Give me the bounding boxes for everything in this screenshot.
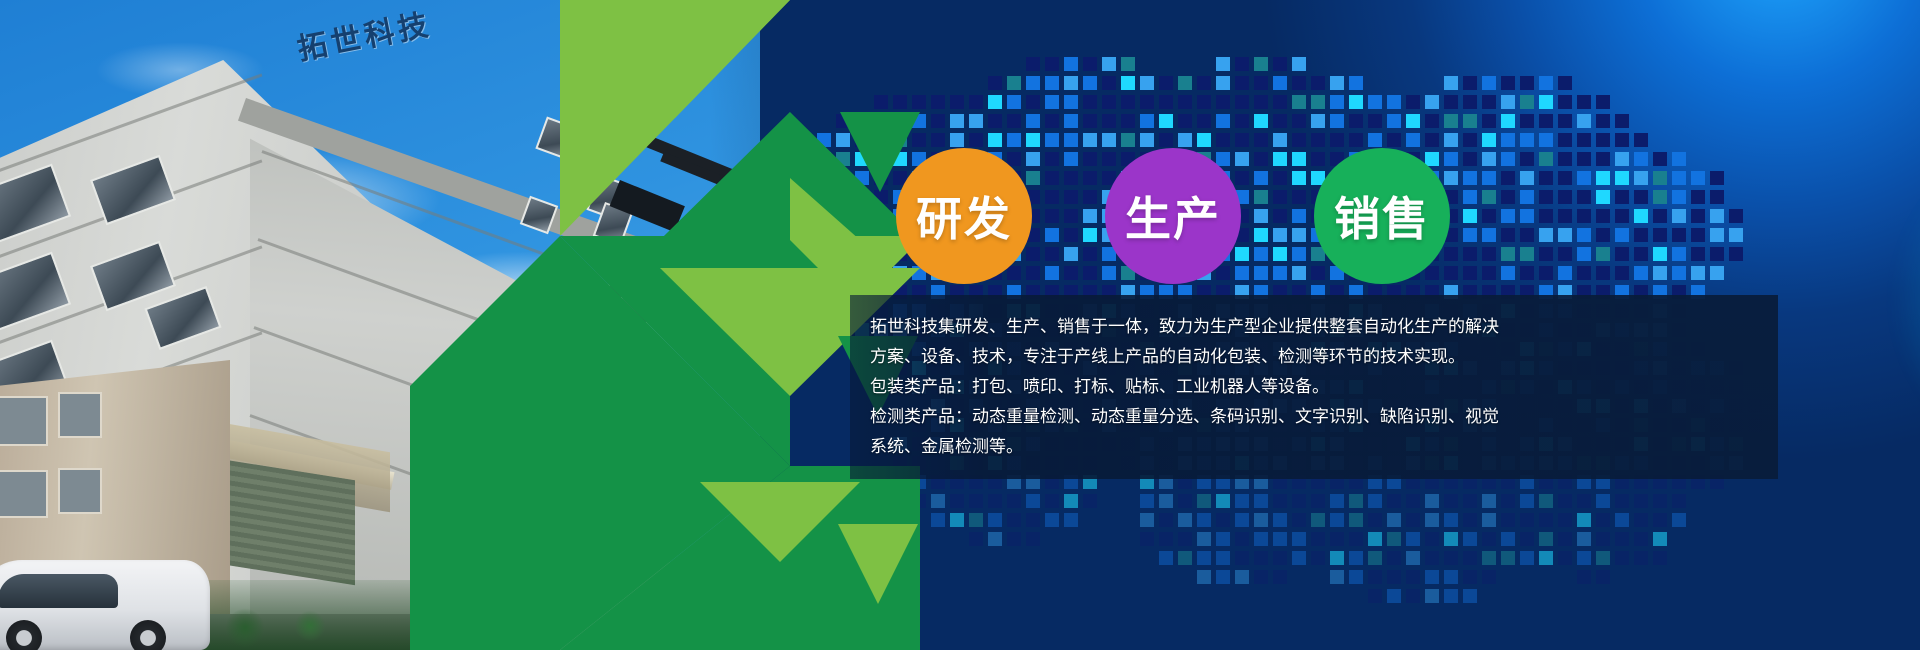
low-building-window: [58, 392, 102, 438]
badge-production[interactable]: 生产: [1105, 148, 1241, 284]
low-building-window: [0, 396, 48, 446]
badge-production-label: 生产: [1125, 183, 1221, 249]
capability-badges: 研发 生产 销售: [880, 148, 1560, 298]
low-building-window: [0, 470, 48, 518]
company-hero-banner: 拓世科技 研发 生产: [0, 0, 1920, 650]
roller-shutter-door: [225, 460, 355, 586]
car-wheel: [6, 620, 42, 650]
factory-building-photo: 拓世科技: [0, 0, 830, 650]
car-windshield: [0, 574, 118, 608]
low-building-window: [58, 468, 102, 514]
badge-sales-label: 销售: [1334, 183, 1430, 249]
parked-car: [0, 560, 210, 650]
description-line: 包装类产品：打包、喷印、打标、贴标、工业机器人等设备。: [870, 372, 1770, 402]
badge-sales[interactable]: 销售: [1314, 148, 1450, 284]
badge-rd-label: 研发: [916, 183, 1012, 249]
car-wheel: [130, 620, 166, 650]
badge-rd[interactable]: 研发: [896, 148, 1032, 284]
description-line: 检测类产品：动态重量检测、动态重量分选、条码识别、文字识别、缺陷识别、视觉: [870, 402, 1770, 432]
description-line: 拓世科技集研发、生产、销售于一体，致力为生产型企业提供整套自动化生产的解决: [870, 312, 1770, 342]
description-line: 方案、设备、技术，专注于产线上产品的自动化包装、检测等环节的技术实现。: [870, 342, 1770, 372]
company-description-text: 拓世科技集研发、生产、销售于一体，致力为生产型企业提供整套自动化生产的解决 方案…: [870, 312, 1770, 462]
description-line: 系统、金属检测等。: [870, 432, 1770, 462]
